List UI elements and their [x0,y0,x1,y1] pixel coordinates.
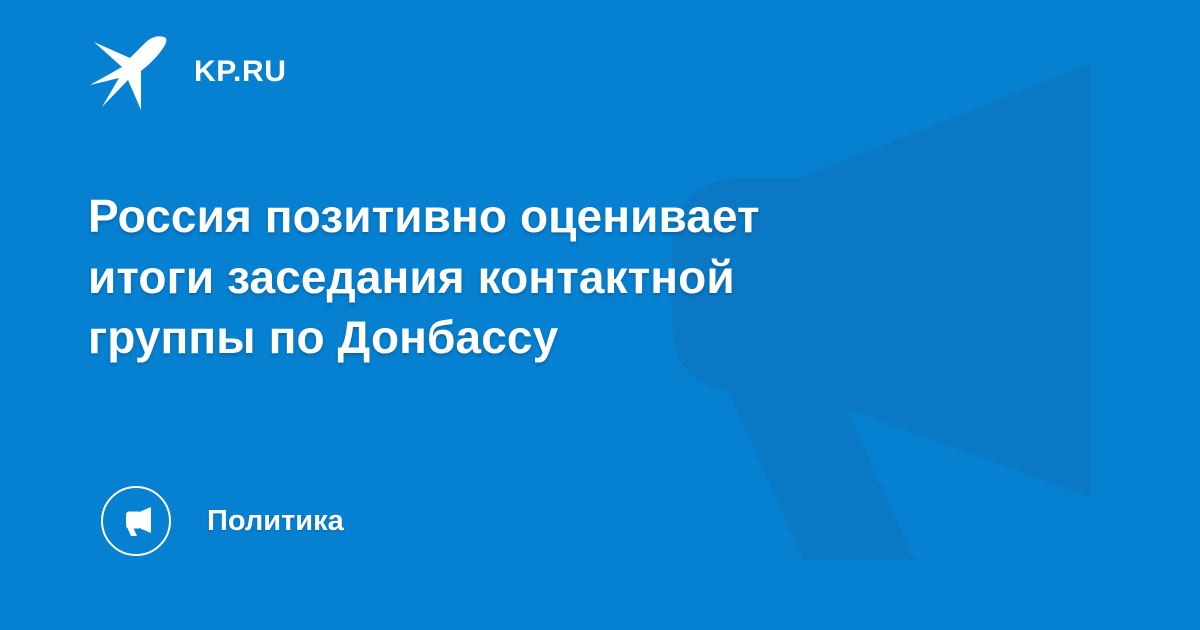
headline-line-2: итоги заседания контактной [88,247,968,308]
page-title: Россия позитивно оценивает итоги заседан… [88,186,968,368]
category-label[interactable]: Политика [207,507,344,536]
megaphone-icon [118,503,154,539]
share-card: KP.RU Россия позитивно оценивает итоги з… [0,0,1200,630]
category-badge[interactable]: Политика [101,485,344,557]
site-header: KP.RU [88,34,286,110]
category-icon-circle[interactable] [101,486,171,556]
site-wordmark[interactable]: KP.RU [194,57,286,87]
headline-line-1: Россия позитивно оценивает [88,186,968,247]
swallow-bird-logo-icon[interactable] [88,34,172,110]
headline-line-3: группы по Донбассу [88,307,968,368]
